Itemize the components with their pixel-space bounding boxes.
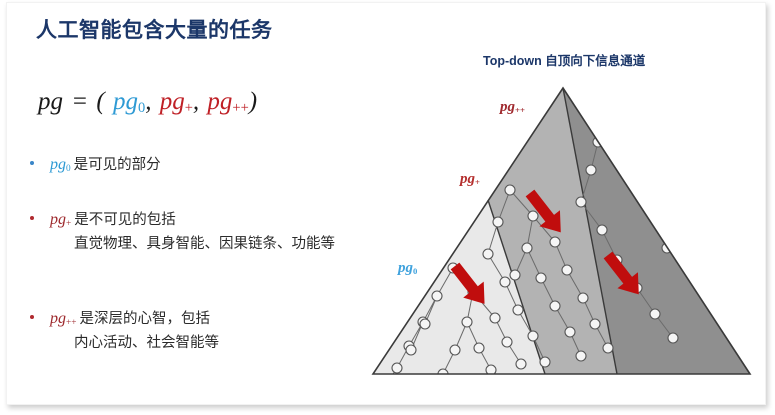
bullet-text: pg+是不可见的包括 直觉物理、具身智能、因果链条、功能等 [50,207,335,256]
bullet-line-1: 是可见的部分 [74,157,161,173]
region-label-pgplus: pg+ [460,171,480,188]
formula-open-paren: ( [96,88,104,115]
bullet-text: pg0是可见的部分 [50,152,161,178]
diagram-caption-en: Top-down [483,54,542,68]
bullet-text: pg++是深层的心智，包括 内心活动、社会智能等 [50,306,219,355]
diagram-caption: Top-down 自顶向下信息通道 [483,50,645,69]
bullet-line-1: 是不可见的包括 [74,212,176,228]
bullet-math-pg0: pg0 [50,156,74,173]
bullet-dot-icon [30,315,34,319]
bullet-item-pg0: pg0是可见的部分 [30,152,161,178]
formula-term-pg0: pg0 [113,88,145,115]
bullet-line-2: 直觉物理、具身智能、因果链条、功能等 [50,233,335,256]
bullet-dot-icon [30,161,34,165]
diagram-caption-zh: 自顶向下信息通道 [542,54,645,68]
formula-expression: pg = ( pg0, pg+, pg++) [38,88,257,116]
bullet-math-pgplus: pg+ [50,211,74,228]
formula-term-pgplus: pg+ [160,88,193,115]
region-label-pg0: pg0 [398,260,417,277]
bullet-line-2: 内心活动、社会智能等 [50,332,219,355]
bullet-line-1: 是深层的心智，包括 [79,311,210,327]
slide-canvas: 人工智能包含大量的任务 pg = ( pg0, pg+, pg++) pg0是可… [0,0,775,415]
pyramid-diagram [355,70,770,390]
formula-equals: = [71,88,88,115]
formula-close-paren: ) [249,88,257,115]
bullet-dot-icon [30,216,34,220]
bullet-item-pgplusplus: pg++是深层的心智，包括 内心活动、社会智能等 [30,306,219,355]
bullet-item-pgplus: pg+是不可见的包括 直觉物理、具身智能、因果链条、功能等 [30,207,335,256]
pyramid-regions [373,88,750,374]
formula-lhs: pg [38,88,63,115]
region-label-pgplusplus: pg++ [500,99,525,116]
bullet-math-pgplusplus: pg++ [50,310,79,327]
formula-term-pgplusplus: pg++ [207,88,248,115]
page-title: 人工智能包含大量的任务 [36,14,273,44]
